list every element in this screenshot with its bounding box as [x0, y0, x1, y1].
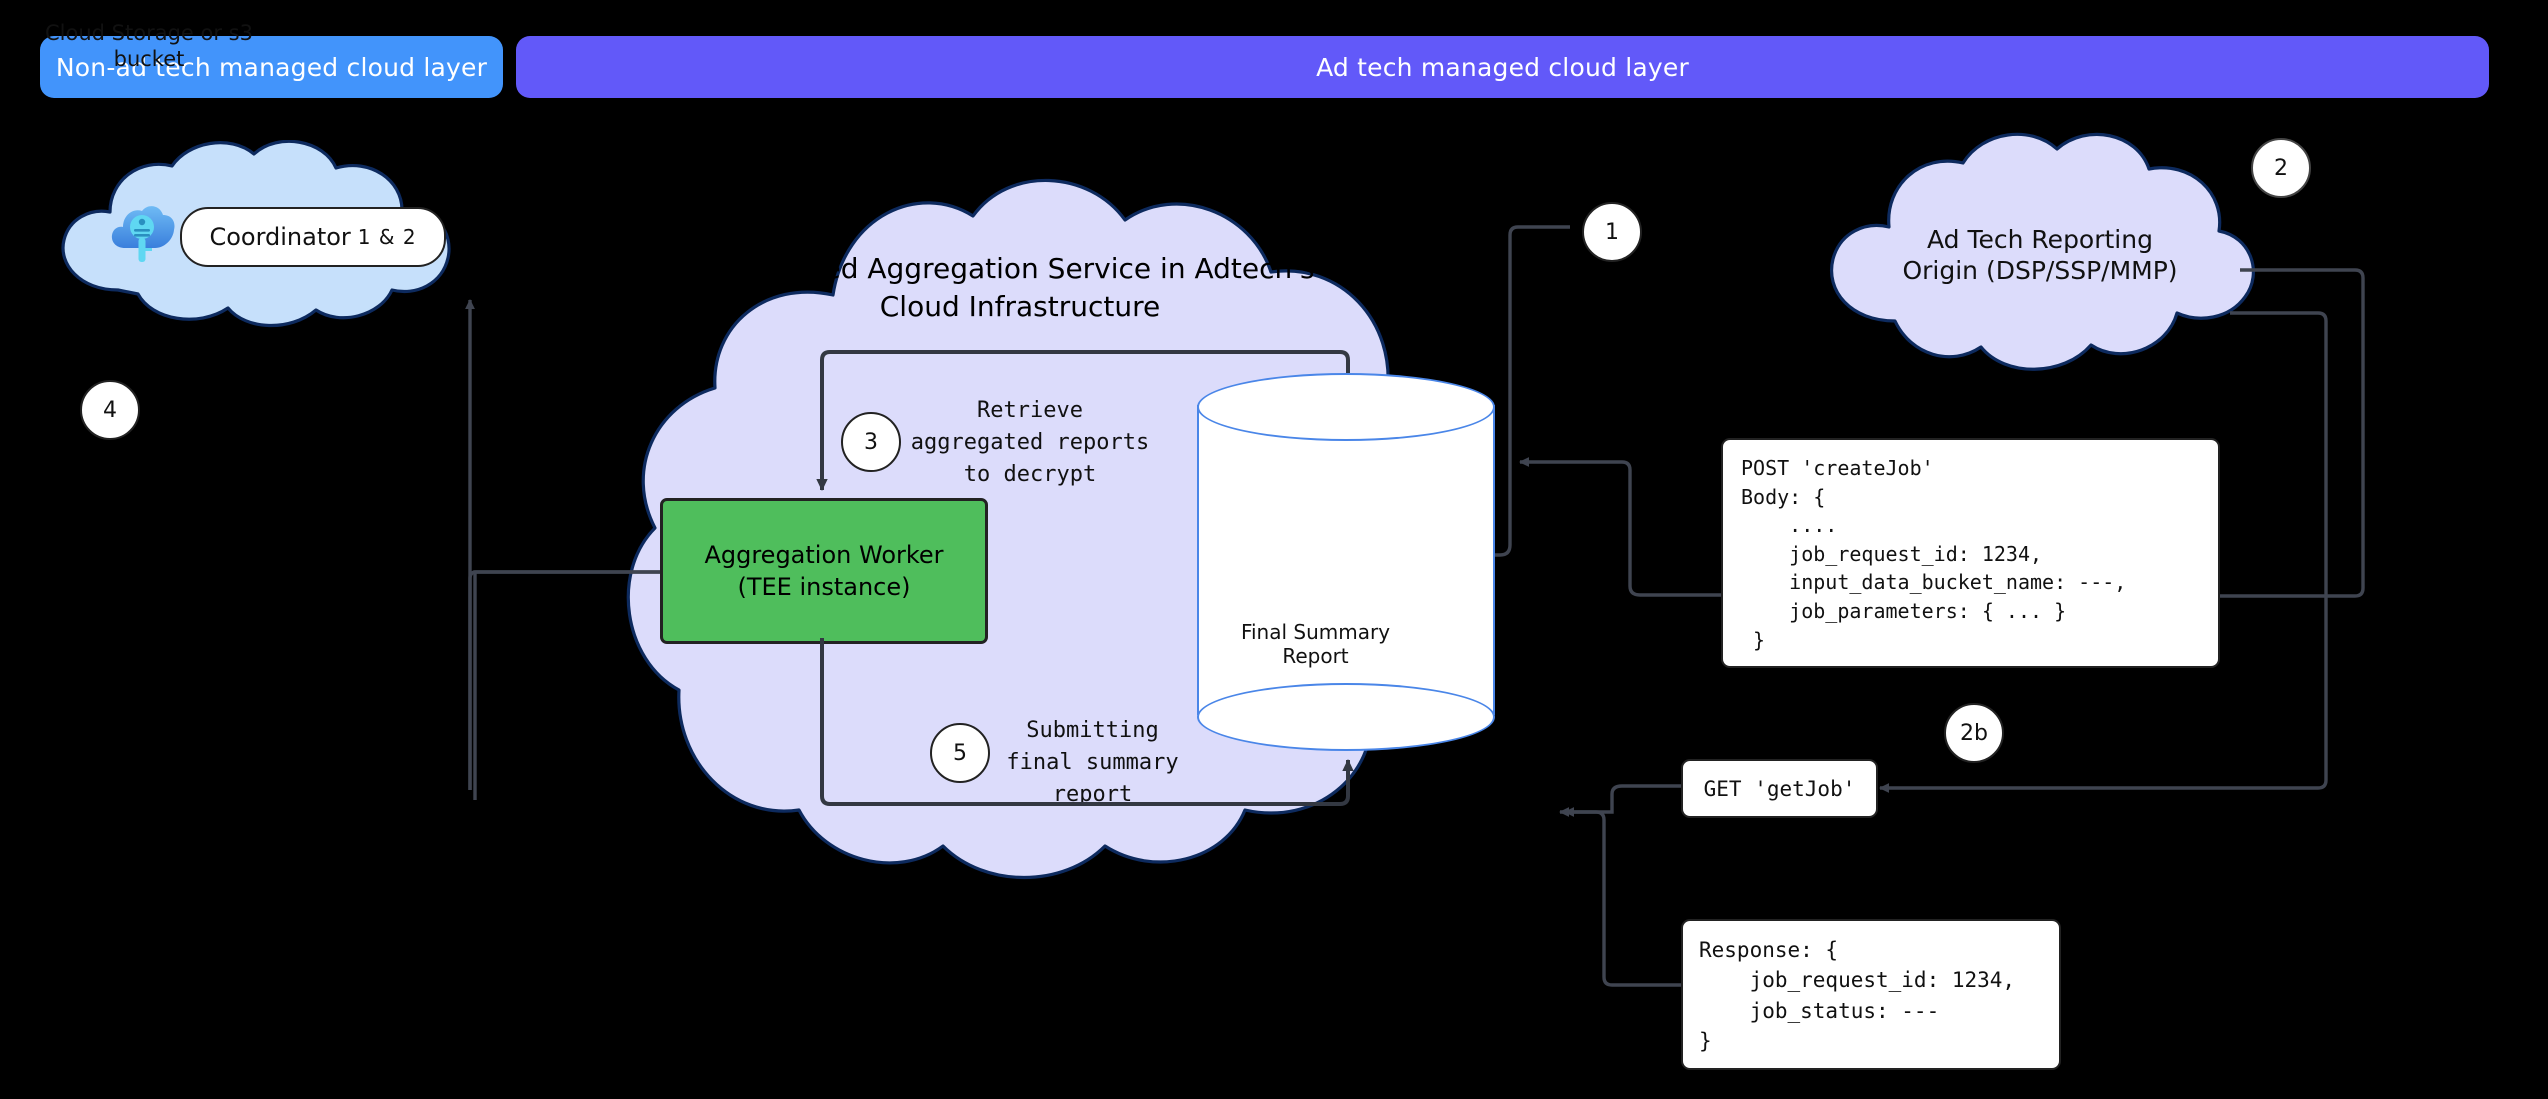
coordinator-suffix: 1 & 2	[358, 225, 417, 249]
bucket-body	[1197, 405, 1495, 715]
bucket-label-line2: bucket	[0, 46, 298, 72]
step-marker-4-label: 4	[103, 398, 117, 423]
aggregation-service-title: Deployed Aggregation Service in Adtech's…	[640, 250, 1400, 325]
step-marker-5[interactable]: 5	[930, 723, 990, 783]
bucket-top-ellipse	[1197, 373, 1495, 441]
coordinator-node[interactable]: Coordinator 1 & 2	[180, 207, 446, 267]
create-job-request-box[interactable]: POST 'createJob' Body: { .... job_reques…	[1721, 438, 2220, 668]
origin-cloud-label-line2: Origin (DSP/SSP/MMP)	[1815, 256, 2265, 287]
diagram-canvas: Non-ad tech managed cloud layer Ad tech …	[0, 0, 2548, 1099]
step-marker-1[interactable]: 1	[1582, 202, 1642, 262]
step-3-description: Retrieve aggregated reports to decrypt	[905, 395, 1155, 491]
step-marker-1-label: 1	[1605, 220, 1619, 245]
aggregation-worker-node[interactable]: Aggregation Worker (TEE instance)	[660, 498, 988, 644]
banner-ad-tech-label: Ad tech managed cloud layer	[1316, 53, 1689, 82]
step-marker-2b[interactable]: 2b	[1944, 703, 2004, 763]
step-marker-4[interactable]: 4	[80, 380, 140, 440]
cloud-storage-bucket[interactable]	[1197, 373, 1497, 748]
step-marker-3-label: 3	[864, 430, 878, 455]
aggregation-worker-label-line1: Aggregation Worker	[704, 539, 943, 571]
step-marker-2-label: 2	[2274, 156, 2288, 181]
cloud-key-icon	[106, 198, 178, 270]
aggregation-service-title-line2: Cloud Infrastructure	[640, 288, 1400, 326]
origin-cloud-label-line1: Ad Tech Reporting	[1815, 225, 2265, 256]
step-marker-2[interactable]: 2	[2251, 138, 2311, 198]
aggregation-service-title-line1: Deployed Aggregation Service in Adtech's	[640, 250, 1400, 288]
step-marker-2b-label: 2b	[1960, 721, 1988, 746]
bucket-label: Cloud Storage or s3 bucket	[0, 20, 298, 73]
bucket-label-line1: Cloud Storage or s3	[0, 20, 298, 46]
banner-ad-tech-layer: Ad tech managed cloud layer	[516, 36, 2489, 98]
origin-cloud-label: Ad Tech Reporting Origin (DSP/SSP/MMP)	[1815, 225, 2265, 286]
bucket-bottom-ellipse	[1197, 683, 1495, 751]
final-summary-report-label: Final Summary Report	[1207, 620, 1424, 668]
step-marker-5-label: 5	[953, 741, 967, 766]
step-marker-3[interactable]: 3	[841, 412, 901, 472]
get-job-request-box[interactable]: GET 'getJob'	[1681, 759, 1878, 818]
get-job-response-box[interactable]: Response: { job_request_id: 1234, job_st…	[1681, 919, 2061, 1070]
coordinator-label: Coordinator	[209, 223, 350, 251]
step-5-description: Submitting final summary report	[1000, 715, 1185, 811]
aggregation-worker-label-line2: (TEE instance)	[737, 571, 910, 603]
